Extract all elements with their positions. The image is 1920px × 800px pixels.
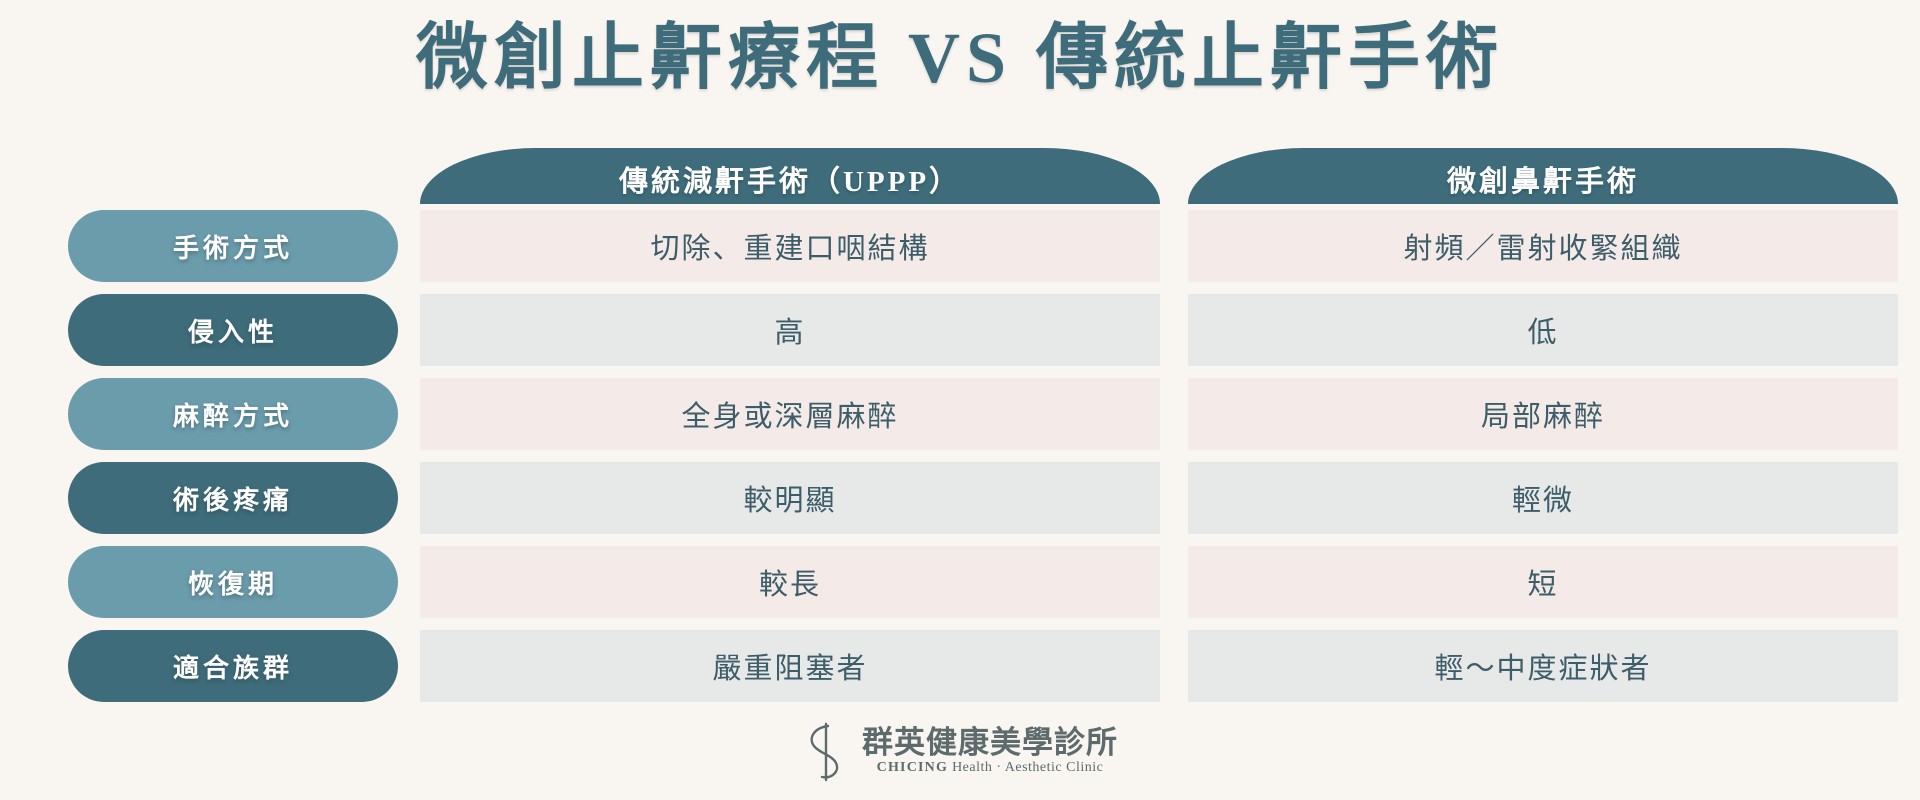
- cell-traditional-suitable-group: 嚴重阻塞者: [420, 630, 1160, 702]
- infographic-page: 微創止鼾療程 VS 傳統止鼾手術 傳統減鼾手術（UPPP） 微創鼻鼾手術 手術方…: [0, 0, 1920, 800]
- cell-traditional-recovery: 較長: [420, 546, 1160, 618]
- clinic-monogram-icon: [802, 722, 848, 782]
- clinic-name-cn: 群英健康美學診所: [862, 727, 1118, 760]
- row-label-recovery: 恢復期: [68, 546, 398, 618]
- cell-traditional-surgical-method: 切除、重建口咽結構: [420, 210, 1160, 282]
- clinic-name-en-bold: CHICING: [877, 760, 948, 775]
- row-label-post-op-pain: 術後疼痛: [68, 462, 398, 534]
- cell-traditional-invasiveness: 高: [420, 294, 1160, 366]
- row-label-surgical-method: 手術方式: [68, 210, 398, 282]
- row-label-invasiveness: 侵入性: [68, 294, 398, 366]
- cell-minimal-post-op-pain: 輕微: [1188, 462, 1898, 534]
- cell-minimal-anesthesia: 局部麻醉: [1188, 378, 1898, 450]
- cell-minimal-recovery: 短: [1188, 546, 1898, 618]
- cell-traditional-post-op-pain: 較明顯: [420, 462, 1160, 534]
- logo-text-block: 群英健康美學診所 CHICING Health · Aesthetic Clin…: [862, 727, 1118, 778]
- page-title: 微創止鼾療程 VS 傳統止鼾手術: [0, 0, 1920, 94]
- cell-minimal-suitable-group: 輕～中度症狀者: [1188, 630, 1898, 702]
- clinic-name-en: CHICING Health · Aesthetic Clinic: [877, 759, 1104, 777]
- cell-traditional-anesthesia: 全身或深層麻醉: [420, 378, 1160, 450]
- cell-minimal-surgical-method: 射頻／雷射收緊組織: [1188, 210, 1898, 282]
- clinic-name-en-rest: Health · Aesthetic Clinic: [952, 760, 1103, 775]
- footer-logo: 群英健康美學診所 CHICING Health · Aesthetic Clin…: [0, 722, 1920, 782]
- column-header-traditional: 傳統減鼾手術（UPPP）: [420, 148, 1160, 204]
- comparison-table: 傳統減鼾手術（UPPP） 微創鼻鼾手術 手術方式 切除、重建口咽結構 射頻／雷射…: [0, 148, 1920, 708]
- row-label-suitable-group: 適合族群: [68, 630, 398, 702]
- row-label-anesthesia: 麻醉方式: [68, 378, 398, 450]
- cell-minimal-invasiveness: 低: [1188, 294, 1898, 366]
- column-header-minimally-invasive: 微創鼻鼾手術: [1188, 148, 1898, 204]
